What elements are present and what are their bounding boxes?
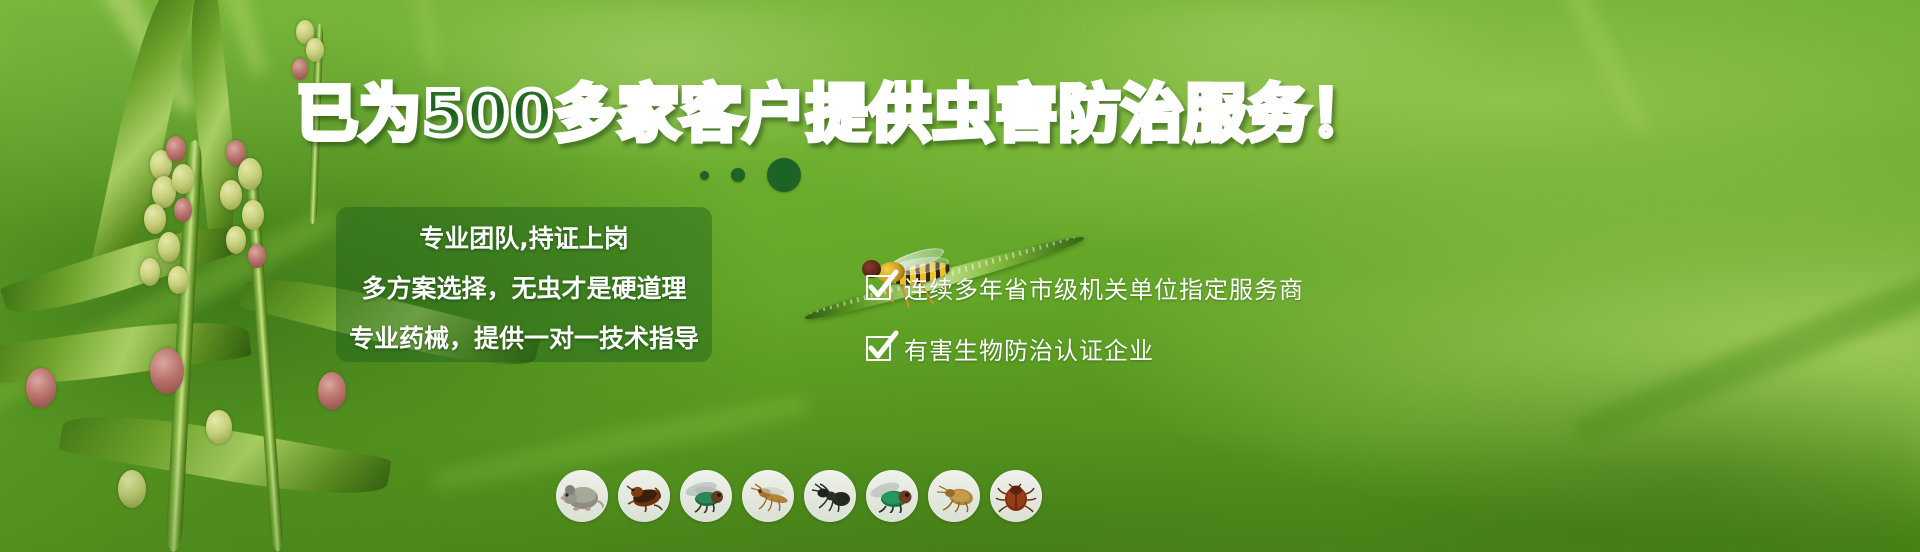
slogan-line-3: 专业药械，提供一对一技术指导 [349, 319, 699, 355]
cockroach-icon [618, 470, 670, 522]
flea-icon [928, 470, 980, 522]
headline-text: 已为500多家客户提供虫害防治服务！ [296, 83, 1373, 145]
pest-control-hero-banner: 已为500多家客户提供虫害防治服务！ 专业团队,持证上岗 多方案选择，无虫才是硬… [0, 0, 1920, 552]
banner-headline: 已为500多家客户提供虫害防治服务！ [296, 78, 1296, 150]
pest-icons-row [556, 470, 1042, 522]
plant-bud [26, 368, 56, 408]
housefly-icon [680, 470, 732, 522]
mouse-icon [556, 470, 608, 522]
plant-bud [118, 470, 146, 508]
decorative-dots-group [700, 158, 801, 192]
ant-icon [804, 470, 856, 522]
checkbox-checked-icon [866, 275, 891, 300]
plant-bud [150, 348, 184, 394]
mosquito-icon [742, 470, 794, 522]
certification-label: 有害生物防治认证企业 [904, 331, 1154, 366]
slogan-line-2: 多方案选择，无虫才是硬道理 [361, 269, 686, 305]
checkbox-checked-icon [866, 336, 891, 361]
certification-label: 连续多年省市级机关单位指定服务商 [904, 270, 1304, 305]
decor-dot-medium-icon [731, 168, 745, 182]
decor-dot-large-icon [767, 158, 801, 192]
bedbug-icon [990, 470, 1042, 522]
certification-row: 有害生物防治认证企业 [866, 331, 1304, 366]
plant-bud [318, 372, 346, 410]
certification-row: 连续多年省市级机关单位指定服务商 [866, 270, 1304, 305]
slogan-line-1: 专业团队,持证上岗 [419, 219, 629, 255]
slogan-panel-text: 专业团队,持证上岗 多方案选择，无虫才是硬道理 专业药械，提供一对一技术指导 [336, 207, 712, 362]
plant-bud [206, 410, 232, 444]
decor-dot-small-icon [700, 171, 709, 180]
certification-list: 连续多年省市级机关单位指定服务商 有害生物防治认证企业 [866, 270, 1304, 366]
green-fly-icon [866, 470, 918, 522]
